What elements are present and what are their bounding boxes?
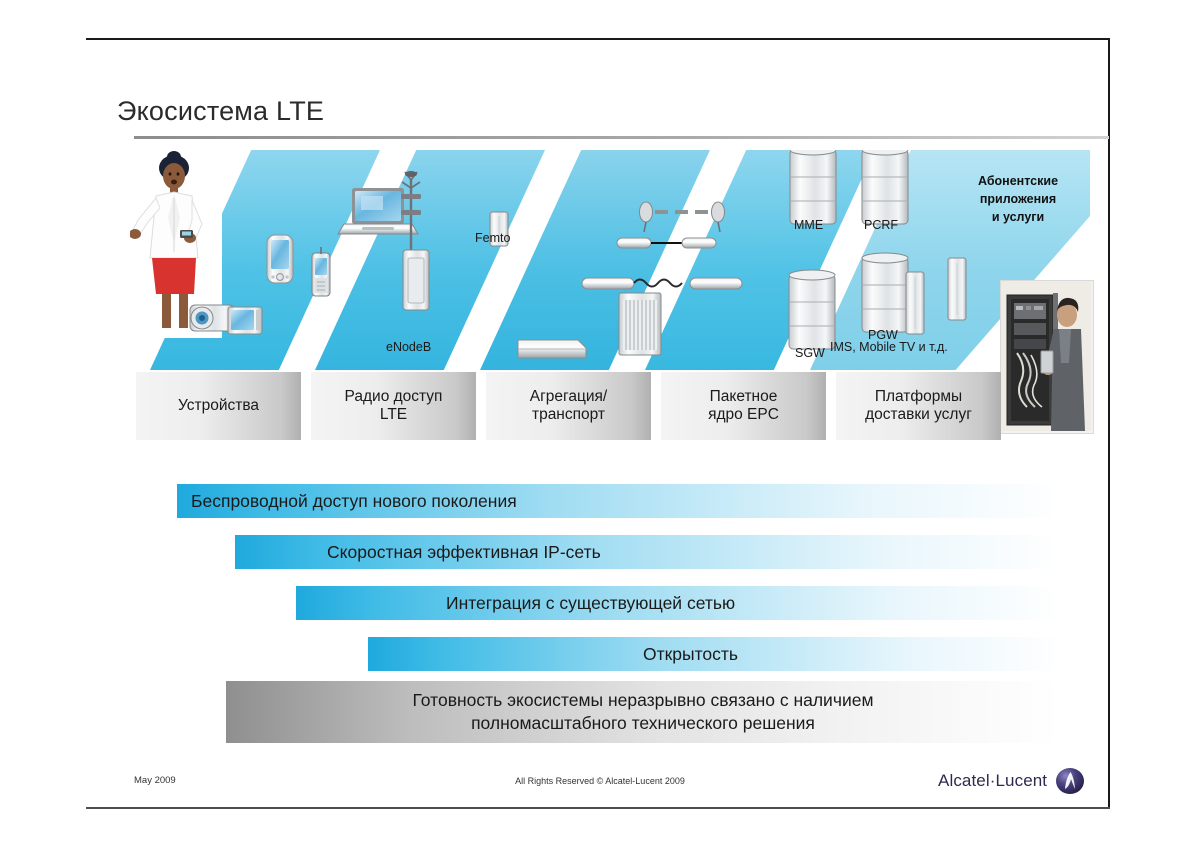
stage-label-3-line1: Агрегация/: [530, 388, 607, 405]
summary-bar: Готовность экосистемы неразрывно связано…: [226, 681, 1060, 743]
benefit-bar-4-label: Открытость: [643, 644, 738, 665]
benefit-bar-3: Интеграция с существующей сетью: [296, 586, 1061, 620]
benefit-bar-2: Скоростная эффективная IP-сеть: [235, 535, 1061, 569]
stage-label-3-line2: транспорт: [532, 406, 605, 423]
subscriber-apps-label: Абонентские приложения и услуги: [948, 172, 1088, 226]
subscriber-apps-line1: Абонентские: [948, 172, 1088, 190]
node-label-femto: Femto: [475, 231, 510, 245]
node-label-sgw: SGW: [795, 346, 825, 360]
stage-box-service-platforms[interactable]: Платформы доставки услуг: [836, 372, 1001, 440]
stage-label-5-line1: Платформы: [875, 388, 962, 405]
benefit-bar-1-label: Беспроводной доступ нового поколения: [191, 491, 517, 512]
benefit-bar-4: Открытость: [368, 637, 1061, 671]
alcatel-lucent-logo: Alcatel·Lucent: [938, 764, 1098, 798]
page-title: Экосистема LTE: [117, 96, 324, 127]
summary-line1: Готовность экосистемы неразрывно связано…: [412, 690, 873, 710]
logo-wordmark: Alcatel·Lucent: [938, 771, 1047, 791]
stage-label-1-line1: Устройства: [178, 397, 259, 414]
frame-top-border: [86, 38, 1110, 40]
node-label-enodeb: eNodeB: [386, 340, 431, 354]
stage-label-row: Устройства Радио доступ LTE Агрегация/ т…: [136, 372, 1096, 440]
woman-with-phone-photo: [130, 148, 222, 338]
stage-label-2-line1: Радио доступ: [345, 388, 443, 405]
frame-right-border: [1108, 38, 1110, 808]
stage-label-4-line1: Пакетное: [710, 388, 778, 405]
title-underline: [134, 136, 1109, 139]
stage-box-packet-core[interactable]: Пакетное ядро EPC: [661, 372, 826, 440]
slide: Экосистема LTE: [0, 0, 1200, 848]
stage-label-2-line2: LTE: [380, 406, 407, 423]
stage-box-radio-access[interactable]: Радио доступ LTE: [311, 372, 476, 440]
node-label-pcrf: PCRF: [864, 218, 898, 232]
node-label-ims: IMS, Mobile TV и т.д.: [830, 340, 948, 354]
lte-ecosystem-diagram: eNodeB Femto SGW PGW MME PCRF IMS, Mobil…: [130, 150, 1090, 370]
subscriber-apps-line3: и услуги: [948, 208, 1088, 226]
stage-box-devices[interactable]: Устройства: [136, 372, 301, 440]
benefit-bar-1: Беспроводной доступ нового поколения: [177, 484, 1061, 518]
node-label-mme: MME: [794, 218, 823, 232]
benefit-bar-3-label: Интеграция с существующей сетью: [446, 593, 735, 614]
summary-line2: полномасштабного технического решения: [471, 713, 815, 733]
benefit-bar-2-label: Скоростная эффективная IP-сеть: [327, 542, 601, 563]
frame-bottom-border: [86, 807, 1110, 809]
alcatel-lucent-mark-icon: [1055, 766, 1085, 796]
stage-box-aggregation[interactable]: Агрегация/ транспорт: [486, 372, 651, 440]
stage-label-4-line2: ядро EPC: [708, 406, 779, 423]
stage-label-5-line2: доставки услуг: [865, 406, 972, 423]
benefit-bars: Беспроводной доступ нового поколения Ско…: [0, 484, 1200, 674]
subscriber-apps-line2: приложения: [948, 190, 1088, 208]
